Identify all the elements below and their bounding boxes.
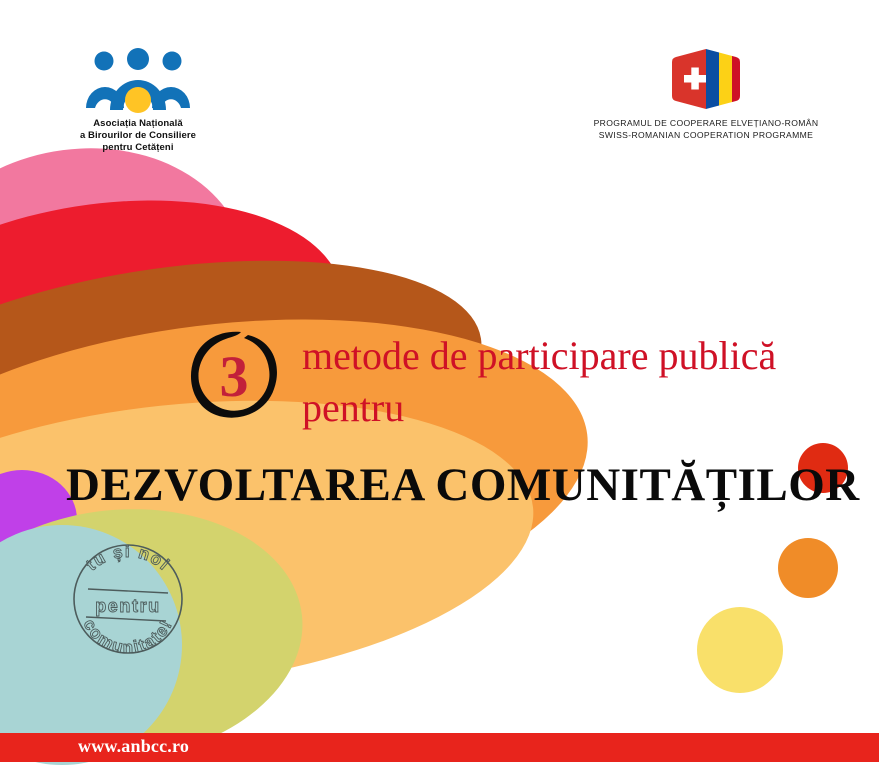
number-badge: 3 [186, 327, 282, 423]
anbcc-caption-line3: pentru Cetățeni [62, 142, 214, 154]
number-badge-value: 3 [220, 344, 249, 409]
swiss-romanian-caption: PROGRAMUL DE COOPERARE ELVEȚIANO-ROMÂN S… [583, 117, 829, 141]
community-stamp: tu și noi pentru comunitate! [62, 533, 194, 665]
swiss-caption-en: SWISS-ROMANIAN COOPERATION PROGRAMME [583, 129, 829, 141]
anbcc-logo: Asociația Națională a Birourilor de Cons… [62, 48, 214, 154]
headline-line2: pentru [302, 382, 776, 434]
anbcc-caption-line1: Asociația Națională [62, 118, 214, 130]
anbcc-caption-line2: a Birourilor de Consiliere [62, 130, 214, 142]
dot-orange [778, 538, 838, 598]
cover-page: Asociația Națională a Birourilor de Cons… [0, 0, 879, 774]
swiss-caption-ro: PROGRAMUL DE COOPERARE ELVEȚIANO-ROMÂN [583, 117, 829, 129]
swiss-romanian-logo: PROGRAMUL DE COOPERARE ELVEȚIANO-ROMÂN S… [583, 48, 829, 141]
stamp-bottom-text: comunitate! [80, 616, 177, 657]
anbcc-caption: Asociația Națională a Birourilor de Cons… [62, 118, 214, 154]
stamp-top-text: tu și noi [82, 542, 174, 575]
footer-url[interactable]: www.anbcc.ro [78, 736, 189, 757]
stamp-middle-text: pentru [95, 596, 161, 616]
headline-line1: metode de participare publică [302, 333, 776, 378]
dot-yellow [697, 607, 783, 693]
headline: metode de participare publică pentru [302, 330, 776, 434]
main-title: DEZVOLTAREA COMUNITĂȚILOR [66, 458, 860, 512]
three-people-logo-icon [82, 48, 194, 114]
swiss-romanian-shield-icon [668, 48, 744, 110]
stamp-rule-top [88, 589, 168, 593]
